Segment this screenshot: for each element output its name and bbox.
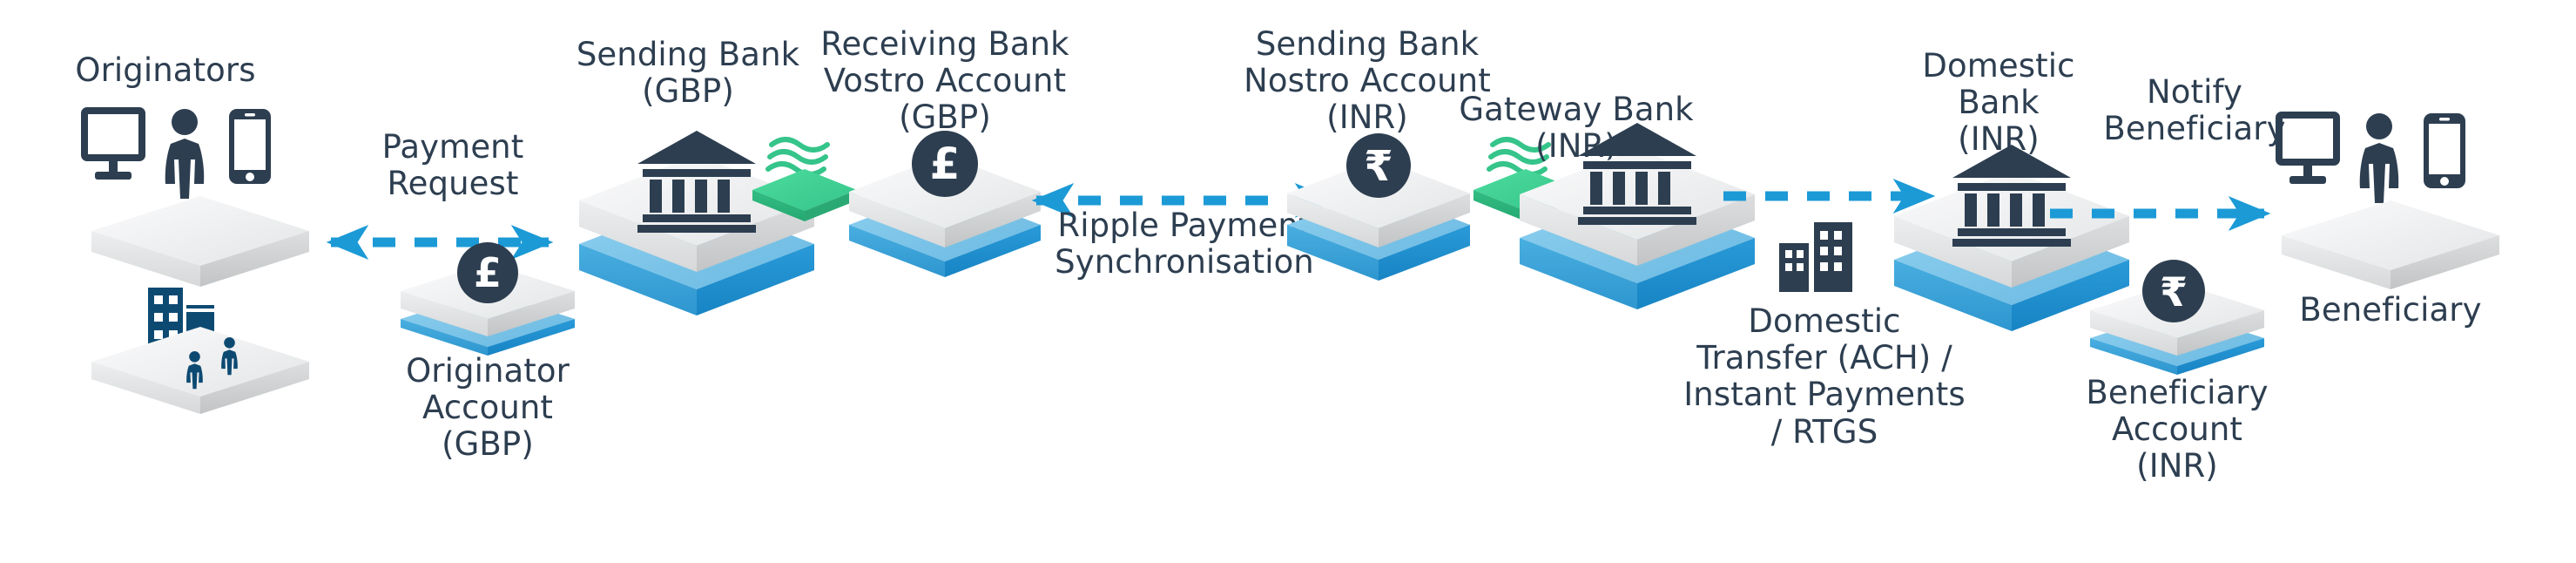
payment-flow-diagram: Originators xyxy=(0,0,2576,563)
person-icon xyxy=(2360,113,2399,203)
beneficiary-platform xyxy=(2282,200,2499,296)
gateway-bank-node xyxy=(1520,118,1755,314)
label-payment-request: Payment Request xyxy=(322,129,583,202)
monitor-icon xyxy=(84,111,142,180)
label-originators: Originators xyxy=(26,52,305,89)
beneficiary-account-stack: ₹ xyxy=(2090,270,2264,375)
beneficiary-icons xyxy=(2277,113,2495,205)
originators-platform xyxy=(91,196,309,292)
phone-icon xyxy=(2424,113,2465,188)
person-icon xyxy=(165,109,205,199)
money-stack-icon xyxy=(752,139,857,221)
platform-grey xyxy=(2282,200,2499,289)
city-building-icon-wrap xyxy=(1779,222,1866,292)
label-sending-bank-gbp: Sending Bank (GBP) xyxy=(557,37,819,110)
label-beneficiary: Beneficiary xyxy=(2264,292,2517,329)
arrow-right xyxy=(2050,197,2269,230)
currency-badge-gbp: £ xyxy=(457,242,518,303)
currency-badge-inr: ₹ xyxy=(1346,133,1411,198)
currency-badge-inr: ₹ xyxy=(2142,260,2205,322)
originator-account-stack: £ xyxy=(401,253,575,357)
label-originator-account: Originator Account (GBP) xyxy=(366,353,610,464)
platform-grey xyxy=(91,196,309,287)
phone-icon xyxy=(229,109,271,184)
label-beneficiary-account: Beneficiary Account (INR) xyxy=(2055,375,2299,485)
corporate-platform xyxy=(91,327,309,423)
label-receiving-bank-vostro: Receiving Bank Vostro Account (GBP) xyxy=(797,26,1093,137)
currency-symbol: £ xyxy=(474,249,502,296)
currency-symbol: ₹ xyxy=(1364,142,1393,191)
money-stack-gbp xyxy=(751,131,864,222)
currency-badge-gbp: £ xyxy=(912,131,978,197)
city-building-icon xyxy=(1779,222,1852,292)
currency-symbol: £ xyxy=(930,139,961,189)
monitor-icon xyxy=(2279,115,2337,184)
originators-icons xyxy=(83,109,300,200)
flow-notify-beneficiary-arrow xyxy=(2047,196,2308,231)
currency-symbol: ₹ xyxy=(2160,268,2188,315)
